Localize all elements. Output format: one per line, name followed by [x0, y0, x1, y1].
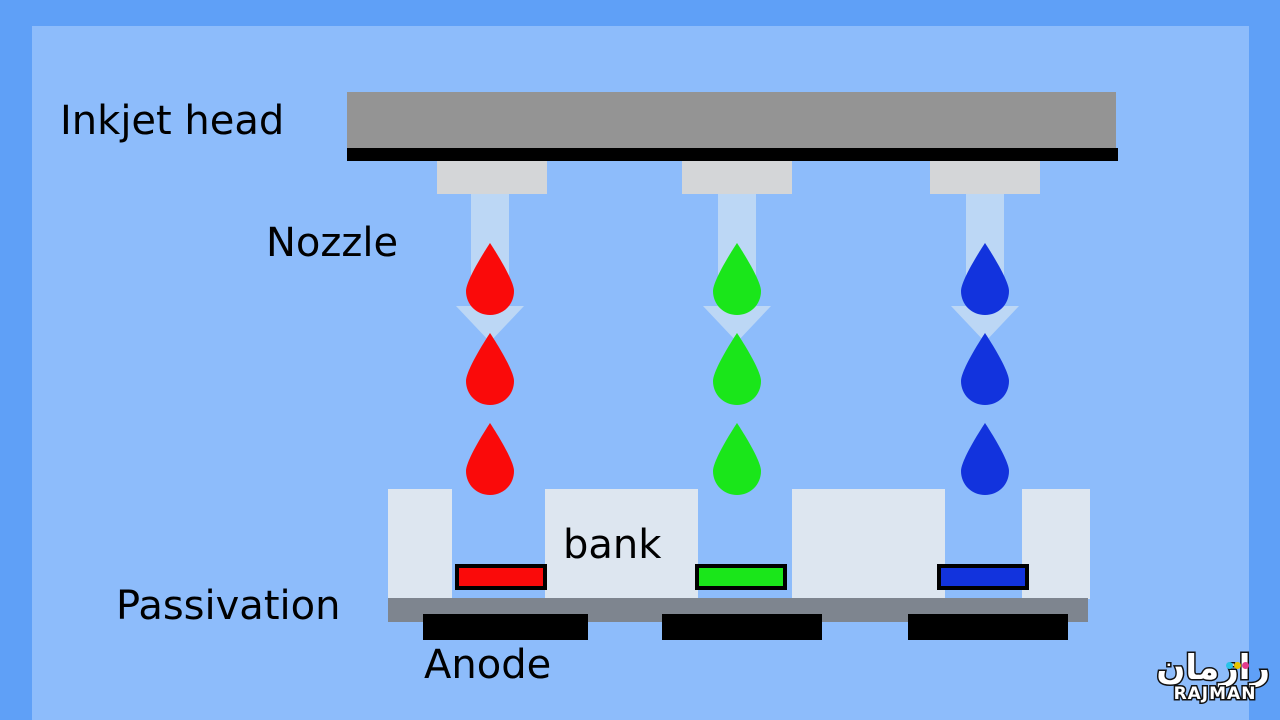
ink-drop-red	[462, 243, 518, 315]
ink-drop-green	[709, 333, 765, 405]
watermark-dots-icon	[1226, 654, 1250, 673]
ink-drop-red	[462, 423, 518, 495]
label-nozzle: Nozzle	[266, 220, 398, 266]
bank-structure	[792, 489, 945, 599]
nozzle-red	[437, 161, 547, 194]
label-anode: Anode	[424, 642, 551, 688]
watermark-logo: رازمان RAJMAN	[1160, 650, 1270, 712]
label-passivation: Passivation	[116, 583, 340, 629]
ink-drop-green	[709, 243, 765, 315]
emissive-layer-blue	[937, 564, 1029, 590]
nozzle-green	[682, 161, 792, 194]
watermark-latin-text: RAJMAN	[1160, 684, 1270, 704]
bank-structure	[388, 489, 452, 599]
diagram-canvas: Inkjet head Nozzle bank Passivation Anod…	[0, 0, 1280, 720]
ink-drop-blue	[957, 423, 1013, 495]
nozzle-blue	[930, 161, 1040, 194]
watermark-farsi-text: رازمان	[1160, 650, 1270, 686]
emissive-layer-red	[455, 564, 547, 590]
ink-drop-blue	[957, 333, 1013, 405]
anode-electrode	[423, 614, 588, 640]
emissive-layer-green	[695, 564, 787, 590]
label-bank: bank	[563, 522, 661, 568]
inkjet-head-plate	[347, 148, 1118, 161]
anode-electrode	[908, 614, 1068, 640]
label-inkjet-head: Inkjet head	[60, 98, 284, 144]
bank-structure	[1022, 489, 1090, 599]
ink-drop-red	[462, 333, 518, 405]
inkjet-head-body	[347, 92, 1116, 148]
ink-drop-blue	[957, 243, 1013, 315]
anode-electrode	[662, 614, 822, 640]
ink-drop-green	[709, 423, 765, 495]
